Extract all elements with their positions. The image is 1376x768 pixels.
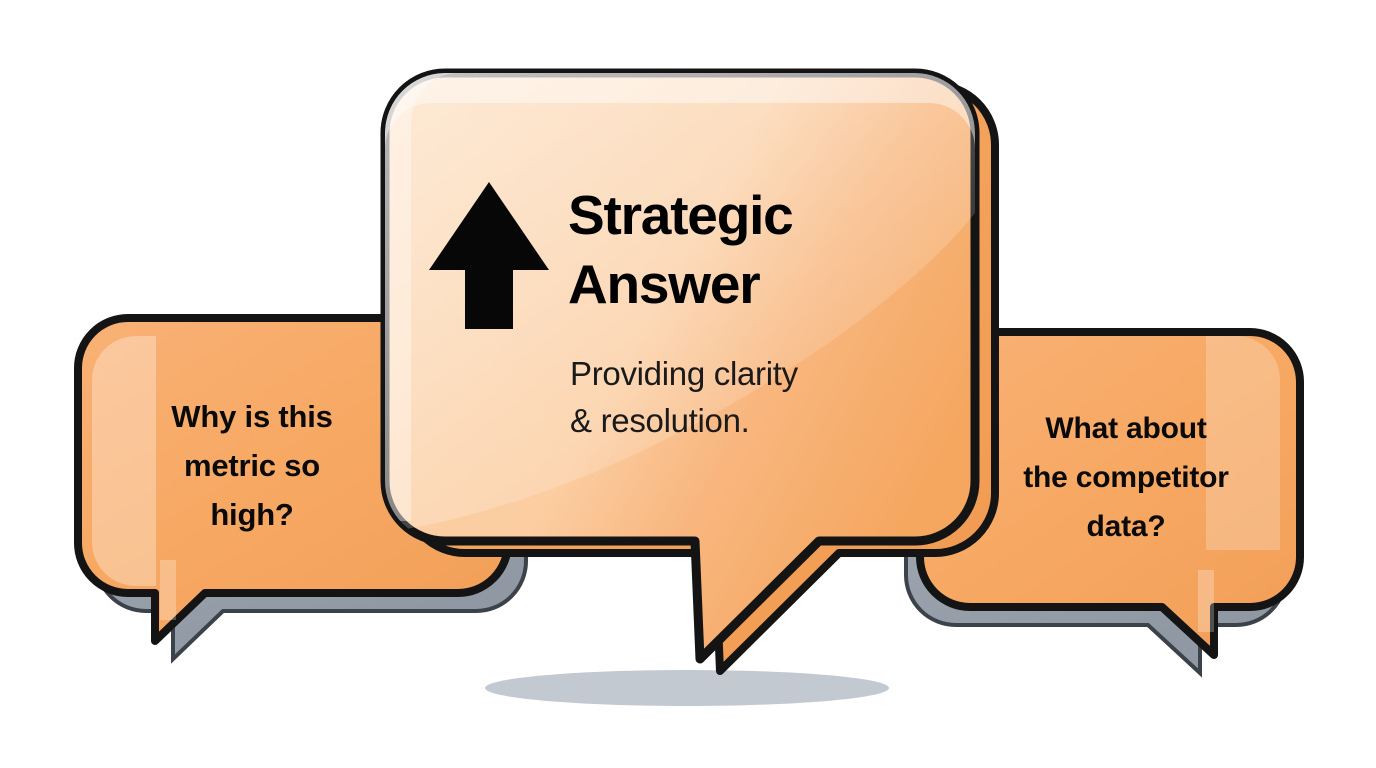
left-bubble-tail-highlight [160, 560, 176, 620]
right-bubble-tail-highlight [1198, 570, 1214, 632]
ground-shadow-ellipse [485, 670, 889, 706]
left-bubble-label: Why is this metric so high? [96, 392, 408, 539]
page-title: Strategic Answer [568, 181, 928, 319]
center-bubble-subtitle: Providing clarity & resolution. [570, 350, 950, 444]
illustration-canvas: Why is this metric so high? What about t… [0, 0, 1376, 768]
right-bubble-label: What about the competitor data? [970, 404, 1282, 551]
